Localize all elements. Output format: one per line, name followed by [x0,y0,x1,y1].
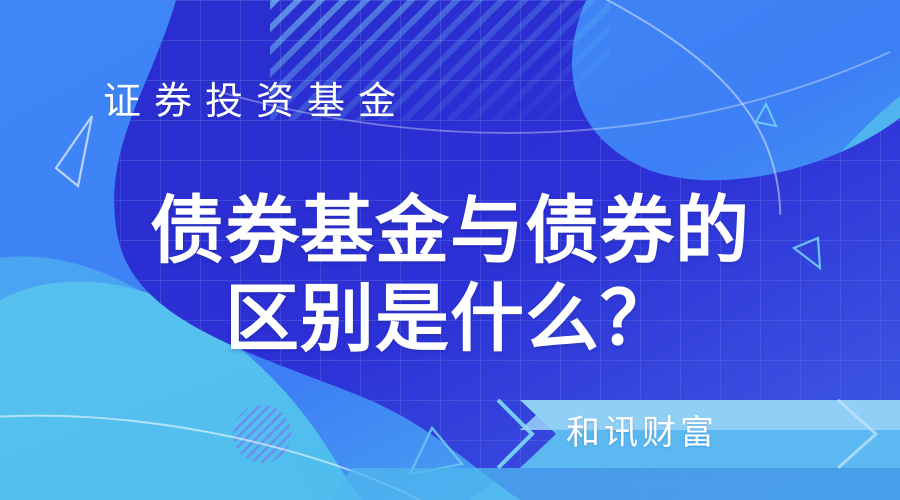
brand-name: 和讯财富 [566,411,718,455]
striped-circle-decor [233,405,291,463]
poster-canvas: 证券投资基金 债券基金与债券的 区别是什么？ 和讯财富 [0,0,900,500]
poster-subtitle: 证券投资基金 [103,78,409,126]
background-artwork [0,0,900,500]
